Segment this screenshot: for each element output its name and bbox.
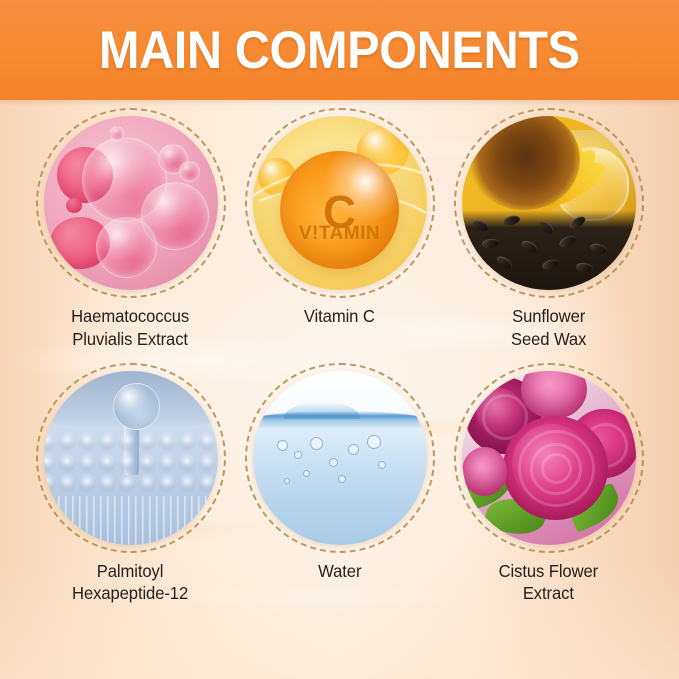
sunflower-seed (541, 257, 560, 271)
water-bubble (284, 478, 290, 484)
component-label-line1: Sunflower (511, 305, 586, 328)
component-label: Cistus Flower Extract (499, 560, 598, 606)
sunflower-seed (537, 218, 556, 236)
component-label-line1: Water (318, 560, 361, 583)
rose-bloom (462, 447, 507, 496)
component-image-frame: C V!TAMIN (249, 112, 431, 294)
water-surface-line (253, 411, 427, 428)
water-bubble (277, 440, 288, 451)
component-image-frame (40, 112, 222, 294)
component-label: Haematococcus Pluvialis Extract (72, 305, 190, 351)
component-label-line1: Vitamin C (304, 305, 375, 328)
component-label: Vitamin C (304, 305, 375, 328)
algae-cell (179, 161, 200, 182)
vitamin-art-background: C V!TAMIN (253, 116, 427, 290)
sunflower-seed (558, 234, 577, 249)
sunflower-seed (576, 262, 594, 273)
water-bubble (348, 444, 359, 455)
component-label-line2: Extract (499, 582, 598, 605)
sunflower-seed (520, 239, 539, 255)
rose-petal-ring (541, 453, 572, 484)
algae-art-background (44, 116, 218, 290)
component-label-line2: Pluvialis Extract (72, 328, 190, 351)
page-title: MAIN COMPONENTS (99, 20, 580, 81)
water-bubble (303, 470, 310, 477)
water-bubble (338, 475, 346, 483)
water-surface-bubbles-icon (253, 371, 427, 545)
component-label-line2: Seed Wax (511, 328, 586, 351)
component-image-frame (458, 367, 640, 549)
skin-cell-row (44, 451, 218, 474)
component-label-line2: Hexapeptide-12 (72, 582, 188, 605)
peptide-molecule (113, 383, 160, 430)
sunflower-seed (482, 238, 500, 249)
water-bubble (378, 461, 386, 469)
water-bubble (294, 451, 302, 459)
vitamin-c-droplet-icon: C V!TAMIN (253, 116, 427, 290)
pink-algae-bubbles-icon (44, 116, 218, 290)
skin-art-background (44, 371, 218, 545)
vitamin-word: V!TAMIN (280, 223, 398, 245)
infographic-poster: MAIN COMPONENTS (0, 0, 679, 679)
cistus-rose-flower-icon (462, 371, 636, 545)
skin-cell-row (44, 430, 218, 453)
component-label-line1: Palmitoyl (72, 560, 188, 583)
algae-cell (96, 217, 157, 278)
algae-cell (110, 126, 124, 140)
water-bubble (367, 435, 381, 449)
component-image-frame (458, 112, 640, 294)
components-grid: Haematococcus Pluvialis Extract C V!TAMI (26, 112, 653, 605)
component-item-palmitoyl: Palmitoyl Hexapeptide-12 (26, 367, 235, 606)
component-item-vitamin-c: C V!TAMIN Vitamin C (235, 112, 444, 351)
vitamin-droplet-shape: C V!TAMIN (280, 151, 398, 269)
header-banner: MAIN COMPONENTS (0, 0, 679, 100)
component-item-sunflower: Sunflower Seed Wax (444, 112, 653, 351)
component-item-cistus-flower: Cistus Flower Extract (444, 367, 653, 606)
sunflower-seed (568, 214, 587, 231)
sunflower-art-background (462, 116, 636, 290)
component-image-frame (40, 367, 222, 549)
skin-layer-diagram-icon (44, 371, 218, 545)
water-art-background (253, 371, 427, 545)
rose-bloom-main (503, 416, 607, 520)
algae-cell (66, 198, 82, 214)
skin-fiber-layer (44, 496, 218, 545)
component-image-frame (249, 367, 431, 549)
sunflower-seeds-oil-icon (462, 116, 636, 290)
water-bubble (310, 437, 323, 450)
water-bubble (329, 458, 338, 467)
component-item-haematococcus: Haematococcus Pluvialis Extract (26, 112, 235, 351)
component-label: Sunflower Seed Wax (511, 305, 586, 351)
flower-art-background (462, 371, 636, 545)
sunflower-seed (495, 254, 514, 271)
sunflower-seed (471, 218, 490, 233)
sunflower-seed (589, 242, 608, 255)
sunflower-seed-pile (462, 210, 636, 290)
component-label-line1: Cistus Flower (499, 560, 598, 583)
component-label-line1: Haematococcus (72, 305, 190, 328)
component-label: Palmitoyl Hexapeptide-12 (72, 560, 188, 606)
skin-cell-row (44, 471, 218, 494)
component-label: Water (318, 560, 361, 583)
component-item-water: Water (235, 367, 444, 606)
sunflower-seed (502, 214, 521, 227)
